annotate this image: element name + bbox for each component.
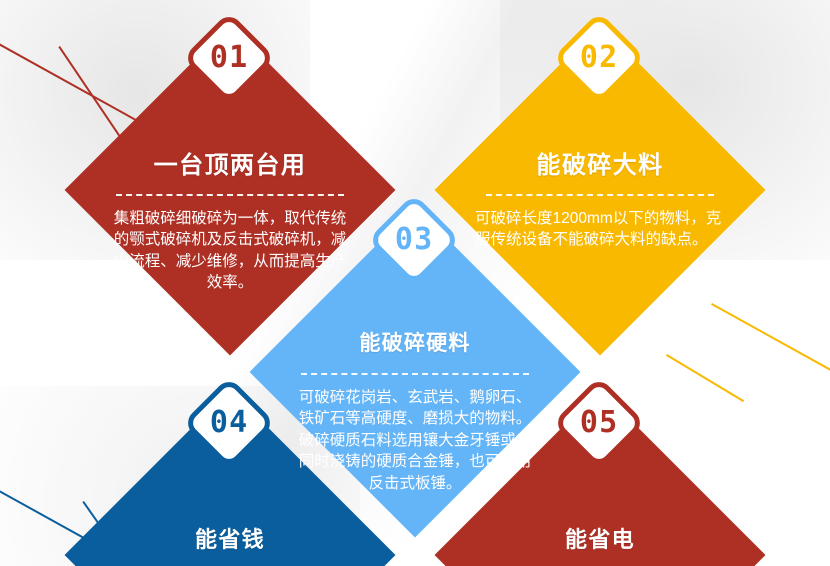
card-01-divider (116, 194, 344, 196)
card-05-title: 能省电 (565, 522, 635, 554)
card-02-body: 可破碎长度1200mm以下的物料，克服传统设备不能破碎大料的缺点。 (475, 208, 725, 251)
card-02-divider (486, 194, 714, 196)
card-03-title: 能破碎硬料 (359, 327, 470, 357)
card-04-number: 04 (210, 408, 249, 438)
card-03-divider (301, 373, 529, 375)
card-03-body: 可破碎花岗岩、玄武岩、鹅卵石、铁矿石等高硬度、磨损大的物料。破碎硬质石料选用镶大… (296, 387, 534, 494)
card-05-number: 05 (580, 408, 619, 438)
card-02-title: 能破碎大料 (536, 145, 663, 180)
card-02-number: 02 (580, 43, 619, 73)
decor-line-right-long (711, 303, 830, 465)
card-03-number: 03 (395, 225, 434, 255)
card-03-content: 能破碎硬料 可破碎花岗岩、玄武岩、鹅卵石、铁矿石等高硬度、磨损大的物料。破碎硬质… (298, 255, 532, 489)
card-01-number: 01 (210, 43, 249, 73)
infographic-canvas: 能省钱 04 能省电 05 一台顶两台用 集粗破碎细破碎为一体，取代传统的颚式破… (0, 0, 830, 566)
card-04-title: 能省钱 (195, 522, 265, 554)
card-01-title: 一台顶两台用 (154, 145, 307, 180)
decor-line-right-short (666, 354, 744, 402)
